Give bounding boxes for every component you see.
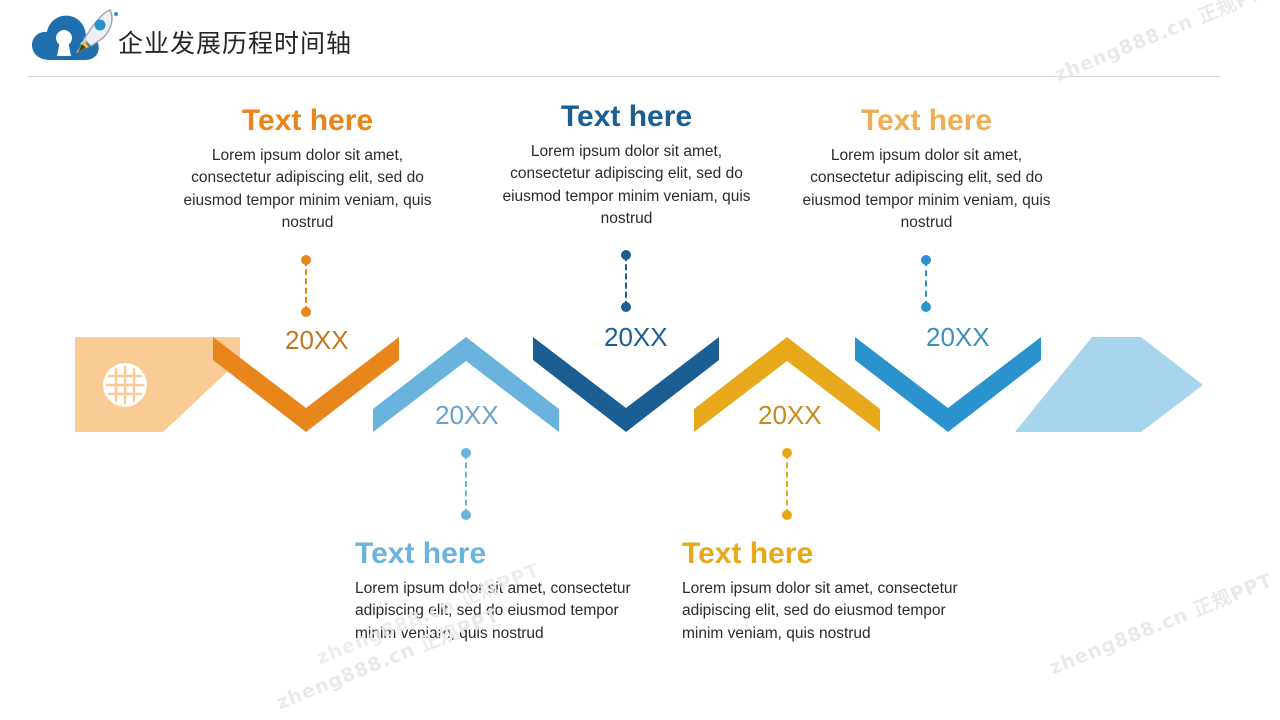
connector-dash	[925, 260, 927, 307]
page-header: 企业发展历程时间轴	[0, 0, 1280, 78]
globe-icon-shape	[102, 362, 148, 408]
watermark: zheng888.cn 正规PPT	[1045, 566, 1276, 680]
content-block-bottom-1: Text here Lorem ipsum dolor sit amet, co…	[355, 537, 640, 645]
content-body: Lorem ipsum dolor sit amet, consectetur …	[490, 141, 763, 231]
header-divider	[28, 76, 1220, 77]
connector-dot	[621, 302, 631, 312]
content-block-top-3: Text here Lorem ipsum dolor sit amet, co…	[790, 104, 1063, 235]
year-label-5: 20XX	[926, 322, 990, 353]
connector-dash	[625, 255, 627, 307]
connector-dash	[786, 453, 788, 515]
content-body: Lorem ipsum dolor sit amet, consectetur …	[790, 145, 1063, 235]
content-heading: Text here	[355, 537, 640, 570]
connector-line-top-3	[921, 255, 931, 312]
content-heading: Text here	[490, 100, 763, 133]
content-block-top-1: Text here Lorem ipsum dolor sit amet, co…	[170, 104, 445, 235]
connector-dot	[782, 510, 792, 520]
timeline-right-cap	[1015, 337, 1203, 432]
year-label-1: 20XX	[285, 325, 349, 356]
content-body: Lorem ipsum dolor sit amet, consectetur …	[355, 578, 640, 645]
content-heading: Text here	[790, 104, 1063, 137]
content-block-bottom-2: Text here Lorem ipsum dolor sit amet, co…	[682, 537, 967, 645]
connector-dot	[921, 302, 931, 312]
connector-dash	[305, 260, 307, 312]
connector-line-bottom-1	[461, 448, 471, 520]
connector-dash	[465, 453, 467, 515]
year-label-3: 20XX	[604, 322, 668, 353]
connector-line-top-1	[301, 255, 311, 317]
connector-dot	[301, 307, 311, 317]
cloud-lock-rocket-logo	[28, 8, 120, 70]
content-block-top-2: Text here Lorem ipsum dolor sit amet, co…	[490, 100, 763, 231]
content-body: Lorem ipsum dolor sit amet, consectetur …	[170, 145, 445, 235]
year-label-2: 20XX	[435, 400, 499, 431]
content-heading: Text here	[170, 104, 445, 137]
year-label-4: 20XX	[758, 400, 822, 431]
connector-line-top-2	[621, 250, 631, 312]
connector-line-bottom-2	[782, 448, 792, 520]
content-heading: Text here	[682, 537, 967, 570]
content-body: Lorem ipsum dolor sit amet, consectetur …	[682, 578, 967, 645]
page-title: 企业发展历程时间轴	[118, 24, 352, 60]
connector-dot	[461, 510, 471, 520]
